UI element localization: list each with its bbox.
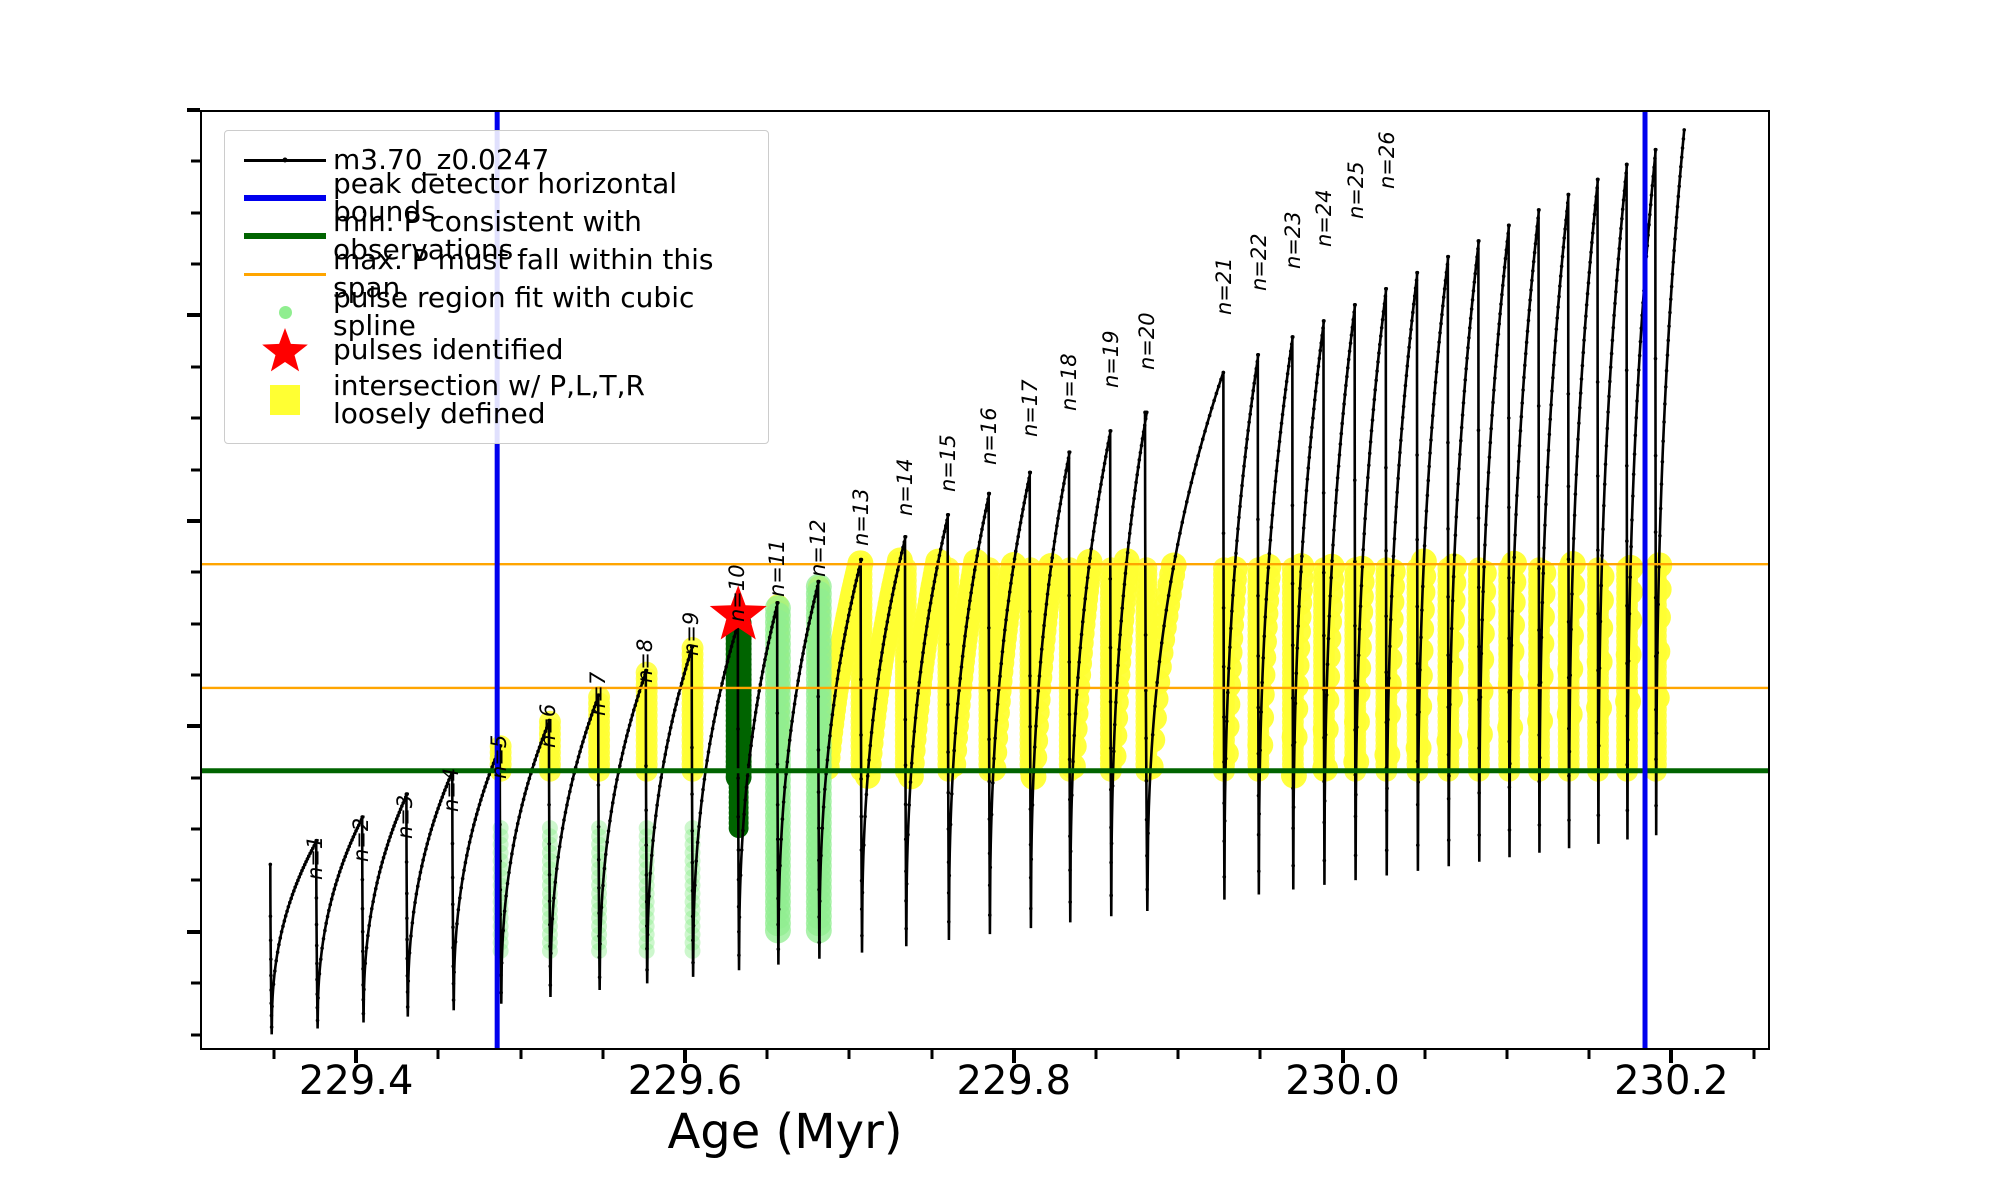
x-tick-mark [1669,1050,1673,1063]
y-tick-mark [187,930,200,934]
x-minor-tick-mark [930,1050,933,1059]
pulse-number-label: n=10 [725,564,749,622]
pulse-number-label: n=4 [439,768,463,812]
pulse-number-label: n=13 [849,488,873,546]
legend-key-yellow-square-icon [237,381,333,419]
x-minor-tick-mark [1094,1050,1097,1059]
pulse-number-label: n=6 [536,704,560,748]
legend-key-blue-line-icon [237,179,333,217]
x-minor-tick-mark [1259,1050,1262,1059]
y-minor-tick-mark [191,571,200,574]
x-minor-tick-mark [1588,1050,1591,1059]
y-tick-mark [187,724,200,728]
legend-key-green-line-icon [237,217,333,255]
x-minor-tick-mark [1177,1050,1180,1059]
y-minor-tick-mark [191,982,200,985]
x-minor-tick-mark [519,1050,522,1059]
pulse-number-label: n=26 [1375,131,1399,189]
pulse-number-label: n=8 [633,638,657,682]
pulse-number-label: n=14 [893,459,917,517]
legend-key-red-star-icon [237,331,333,369]
x-minor-tick-mark [601,1050,604,1059]
x-axis-label: Age (Myr) [667,1104,902,1160]
pulse-number-label: n=17 [1018,379,1042,437]
y-minor-tick-mark [191,776,200,779]
pulse-number-label: n=7 [586,671,610,715]
x-minor-tick-mark [766,1050,769,1059]
x-minor-tick-mark [848,1050,851,1059]
legend-key-orange-line-icon [237,255,333,293]
legend: m3.70_z0.0247peak detector horizontal bo… [224,130,769,444]
y-minor-tick-mark [191,365,200,368]
y-minor-tick-mark [191,468,200,471]
legend-item-label: intersection w/ P,L,T,R loosely defined [333,372,645,428]
legend-item-label: pulses identified [333,336,564,364]
pulse-number-label: n=15 [936,434,960,492]
x-tick-mark [354,1050,358,1063]
pulse-number-label: n=24 [1312,189,1336,247]
pulse-number-label: n=3 [393,795,417,839]
x-tick-mark [1012,1050,1016,1063]
y-minor-tick-mark [191,160,200,163]
y-minor-tick-mark [191,828,200,831]
y-minor-tick-mark [191,622,200,625]
pulse-number-label: n=21 [1212,257,1236,315]
legend-key-line-icon [237,141,333,179]
y-minor-tick-mark [191,211,200,214]
pulse-number-label: n=22 [1247,234,1271,292]
x-minor-tick-mark [437,1050,440,1059]
pulse-number-label: n=12 [806,519,830,577]
y-minor-tick-mark [191,879,200,882]
y-tick-mark [187,313,200,317]
y-minor-tick-mark [191,263,200,266]
x-tick-mark [1341,1050,1345,1063]
y-tick-mark [187,519,200,523]
pulse-number-label: n=1 [303,836,327,880]
pulse-number-label: n=18 [1057,354,1081,412]
pulse-number-label: n=16 [977,407,1001,465]
pulse-number-label: n=25 [1344,162,1368,220]
pulse-number-label: n=20 [1135,313,1159,371]
pulse-number-label: n=9 [679,612,703,656]
pulse-number-label: n=23 [1281,211,1305,269]
plot-area: n=1n=2n=3n=4n=5n=6n=7n=8n=9n=10n=11n=12n… [200,110,1770,1050]
x-minor-tick-mark [1505,1050,1508,1059]
x-minor-tick-mark [1752,1050,1755,1059]
legend-item: pulse region fit with cubic spline [237,293,756,331]
pulse-number-label: n=11 [765,540,789,598]
y-minor-tick-mark [191,674,200,677]
x-tick-label: 230.2 [1614,1058,1729,1104]
x-axis-ticks [0,1050,1570,1066]
legend-item-label: pulse region fit with cubic spline [333,284,756,340]
x-minor-tick-mark [272,1050,275,1059]
pulse-number-label: n=19 [1099,330,1123,388]
figure-root: FM period (days) 2004006008001000 229.42… [0,0,2000,1200]
pulse-number-label: n=5 [487,735,511,779]
y-minor-tick-mark [191,417,200,420]
legend-item: intersection w/ P,L,T,R loosely defined [237,369,756,431]
pulse-number-label: n=2 [349,818,373,862]
x-minor-tick-mark [1423,1050,1426,1059]
y-minor-tick-mark [191,1033,200,1036]
x-tick-mark [683,1050,687,1063]
y-tick-mark [187,108,200,112]
